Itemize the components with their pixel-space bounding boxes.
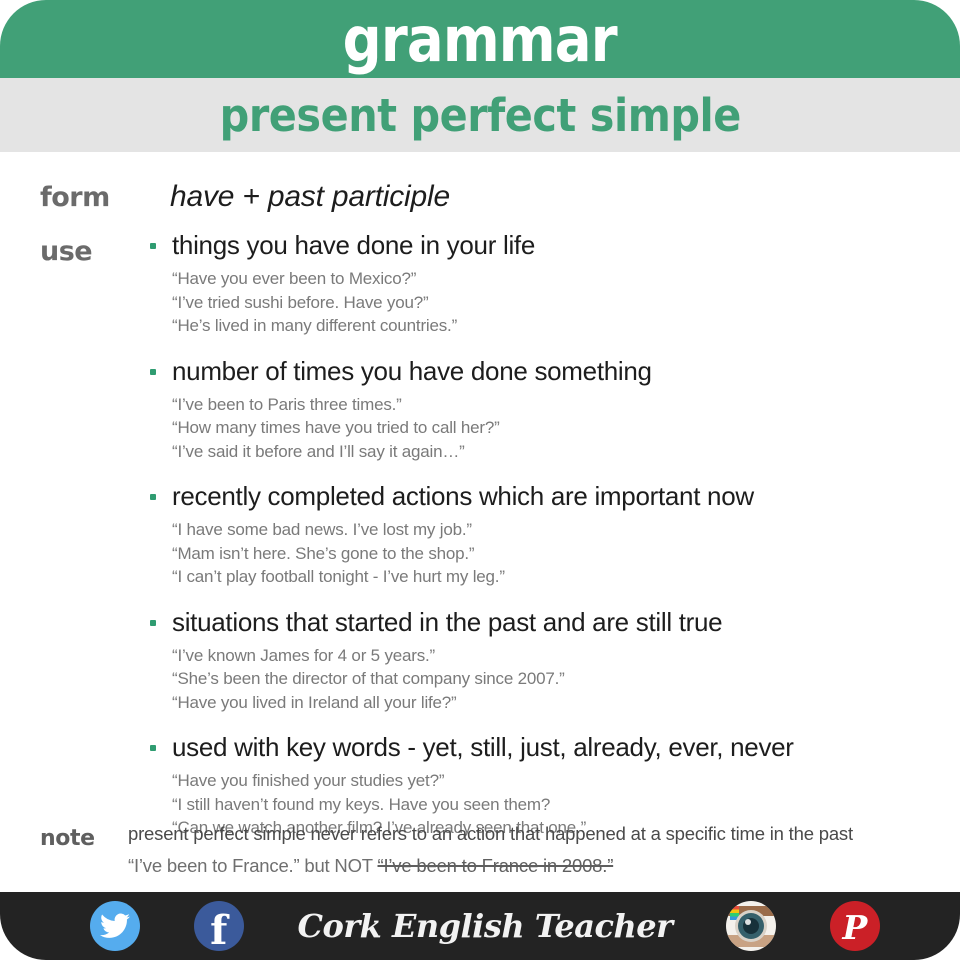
example-line: “Mam isn’t here. She’s gone to the shop.… (172, 542, 948, 566)
bullet-icon (150, 369, 156, 375)
page-subtitle: present perfect simple (219, 93, 740, 138)
example-line: “I’ve tried sushi before. Have you?” (172, 291, 948, 315)
use-heading-text: things you have done in your life (172, 230, 535, 260)
pinterest-icon[interactable]: P (830, 901, 880, 951)
use-block: number of times you have done something … (148, 356, 948, 464)
use-label: use (40, 238, 92, 265)
bullet-icon (150, 620, 156, 626)
use-list: things you have done in your life “Have … (148, 230, 948, 858)
header-green-band: grammar (0, 0, 960, 78)
use-heading-text: number of times you have done something (172, 356, 652, 386)
grammar-poster: grammar present perfect simple form have… (0, 0, 960, 960)
twitter-icon[interactable] (90, 901, 140, 951)
facebook-icon[interactable]: f (194, 901, 244, 951)
use-heading: recently completed actions which are imp… (148, 481, 948, 511)
bullet-icon (150, 494, 156, 500)
footer-bar: f Cork English Teacher P (0, 892, 960, 960)
example-line: “He’s lived in many different countries.… (172, 314, 948, 338)
use-heading-text: situations that started in the past and … (172, 607, 722, 637)
example-line: “How many times have you tried to call h… (172, 416, 948, 440)
example-line: “Have you finished your studies yet?” (172, 769, 948, 793)
example-line: “I still haven’t found my keys. Have you… (172, 793, 948, 817)
use-block: situations that started in the past and … (148, 607, 948, 715)
example-line: “I have some bad news. I’ve lost my job.… (172, 518, 948, 542)
note-line-secondary: “I’ve been to France.” but NOT “I’ve bee… (128, 854, 938, 878)
form-label: form (40, 184, 110, 211)
example-list: “I’ve been to Paris three times.” “How m… (148, 393, 948, 464)
use-heading: situations that started in the past and … (148, 607, 948, 637)
example-list: “Have you ever been to Mexico?” “I’ve tr… (148, 267, 948, 338)
example-line: “Have you lived in Ireland all your life… (172, 691, 948, 715)
use-heading-text: used with key words - yet, still, just, … (172, 732, 794, 762)
note-incorrect-example: “I’ve been to France in 2008.” (378, 855, 614, 876)
footer-inner: f Cork English Teacher P (90, 901, 880, 951)
note-correct-example: “I’ve been to France.” but NOT (128, 855, 378, 876)
facebook-glyph: f (210, 911, 227, 951)
example-line: “I’ve said it before and I’ll say it aga… (172, 440, 948, 464)
use-heading: used with key words - yet, still, just, … (148, 732, 948, 762)
note-body: present perfect simple never refers to a… (128, 822, 938, 878)
bullet-icon (150, 243, 156, 249)
form-value: have + past participle (170, 180, 450, 214)
example-line: “I’ve known James for 4 or 5 years.” (172, 644, 948, 668)
use-heading: number of times you have done something (148, 356, 948, 386)
pinterest-glyph: P (843, 911, 868, 944)
example-line: “She’s been the director of that company… (172, 667, 948, 691)
example-list: “I have some bad news. I’ve lost my job.… (148, 518, 948, 589)
bullet-icon (150, 745, 156, 751)
use-heading-text: recently completed actions which are imp… (172, 481, 754, 511)
example-line: “I’ve been to Paris three times.” (172, 393, 948, 417)
page-title: grammar (343, 9, 617, 71)
content-area: form have + past participle use things y… (0, 152, 960, 892)
use-heading: things you have done in your life (148, 230, 948, 260)
example-list: “I’ve known James for 4 or 5 years.” “Sh… (148, 644, 948, 715)
note-line-primary: present perfect simple never refers to a… (128, 822, 938, 846)
brand-name: Cork English Teacher (298, 909, 673, 943)
example-line: “I can’t play football tonight - I’ve hu… (172, 565, 948, 589)
use-block: things you have done in your life “Have … (148, 230, 948, 338)
example-line: “Have you ever been to Mexico?” (172, 267, 948, 291)
note-label: note (40, 828, 95, 850)
instagram-icon[interactable] (726, 901, 776, 951)
use-block: recently completed actions which are imp… (148, 481, 948, 589)
header-grey-band: present perfect simple (0, 78, 960, 152)
